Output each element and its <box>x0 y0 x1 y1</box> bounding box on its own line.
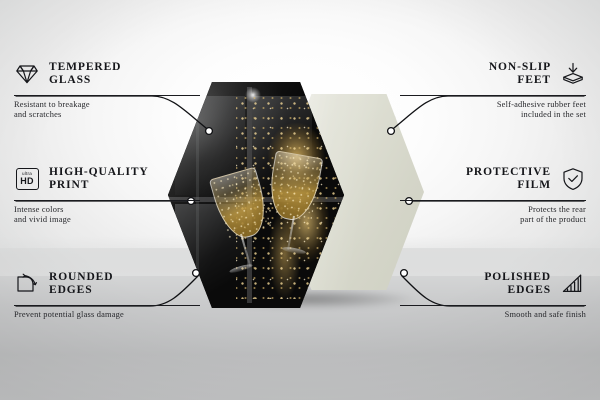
feature-protective-film: PROTECTIVE FILM Protects the rear part o… <box>400 161 586 226</box>
feature-header: TEMPERED GLASS <box>14 56 200 92</box>
ultra-hd-icon: ultra HD <box>14 166 40 192</box>
feature-header: ROUNDED EDGES <box>14 266 200 302</box>
feature-description: Prevent potential glass damage <box>14 310 200 320</box>
feature-description: Smooth and safe finish <box>400 310 586 320</box>
feature-divider <box>400 95 586 96</box>
feature-divider <box>400 200 586 201</box>
diamond-icon <box>14 61 40 87</box>
feature-divider <box>14 95 200 96</box>
ultra-hd-badge: ultra HD <box>16 168 39 190</box>
feature-title: TEMPERED GLASS <box>49 61 121 86</box>
feature-divider <box>400 305 586 306</box>
feature-description: Self-adhesive rubber feet included in th… <box>400 100 586 121</box>
feature-title: POLISHED EDGES <box>484 271 551 296</box>
feature-description: Intense colors and vivid image <box>14 205 200 226</box>
feature-header: POLISHED EDGES <box>400 266 586 302</box>
feature-divider <box>14 305 200 306</box>
press-pad-icon <box>560 61 586 87</box>
feature-divider <box>14 200 200 201</box>
hatch-triangle-icon <box>560 271 586 297</box>
feature-non-slip-feet: NON-SLIP FEET Self-adhesive rubber feet … <box>400 56 586 121</box>
feature-high-quality-print: ultra HD HIGH-QUALITY PRINT Intense colo… <box>14 161 200 226</box>
feature-title: PROTECTIVE FILM <box>466 166 551 191</box>
ultra-hd-bottom-text: HD <box>20 177 33 186</box>
rounded-corner-icon <box>14 271 40 297</box>
shield-check-icon <box>560 166 586 192</box>
feature-description: Protects the rear part of the product <box>400 205 586 226</box>
feature-title: HIGH-QUALITY PRINT <box>49 166 149 191</box>
feature-rounded-edges: ROUNDED EDGES Prevent potential glass da… <box>14 266 200 320</box>
feature-polished-edges: POLISHED EDGES Smooth and safe finish <box>400 266 586 320</box>
feature-title: ROUNDED EDGES <box>49 271 113 296</box>
feature-title: NON-SLIP FEET <box>489 61 551 86</box>
feature-header: PROTECTIVE FILM <box>400 161 586 197</box>
feature-header: ultra HD HIGH-QUALITY PRINT <box>14 161 200 197</box>
feature-header: NON-SLIP FEET <box>400 56 586 92</box>
infographic-canvas: TEMPERED GLASS Resistant to breakage and… <box>0 0 600 400</box>
feature-description: Resistant to breakage and scratches <box>14 100 200 121</box>
feature-tempered-glass: TEMPERED GLASS Resistant to breakage and… <box>14 56 200 121</box>
